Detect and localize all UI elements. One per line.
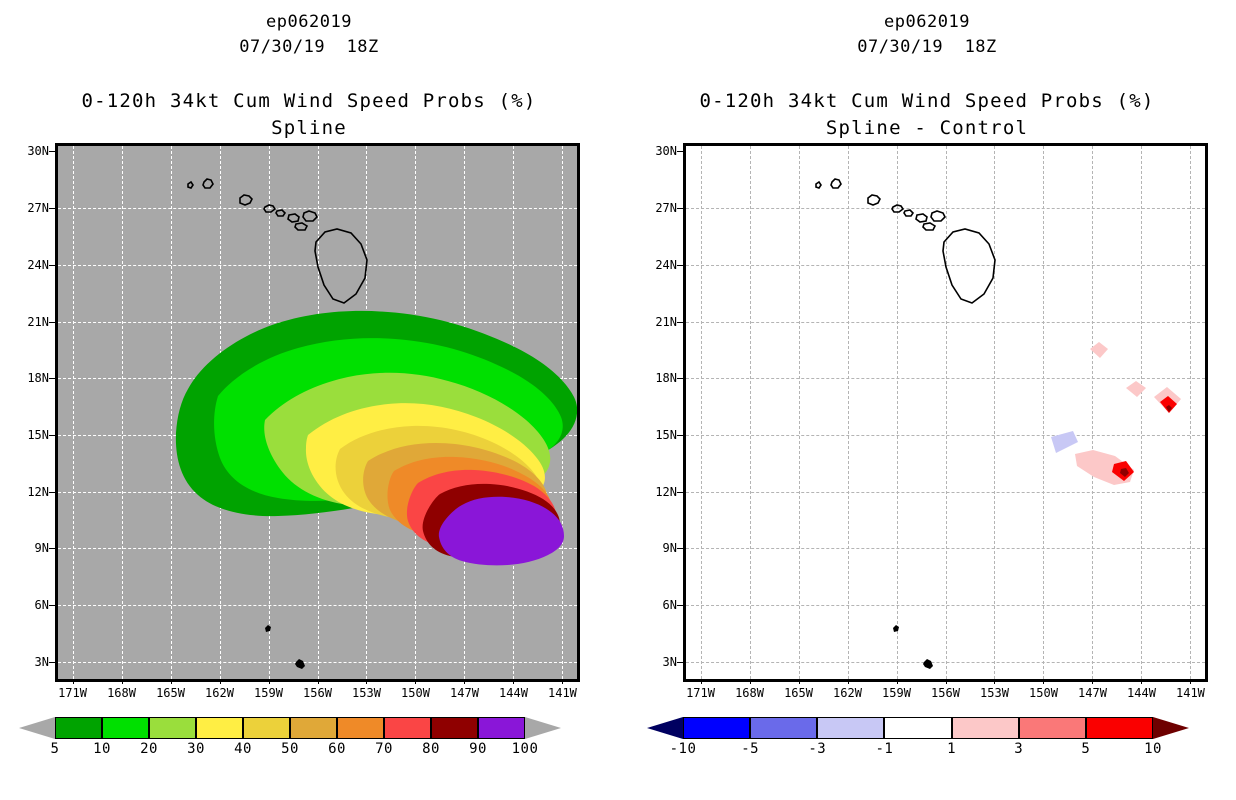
island-small-1-right	[893, 625, 899, 632]
hawaii-outline	[188, 179, 367, 303]
colorbar-tick-label: 20	[140, 741, 158, 757]
x-axis-label: 150W	[1029, 686, 1058, 700]
y-axis-label: 30N	[635, 144, 677, 158]
right-storm-id: ep062019	[618, 10, 1236, 35]
left-chart-subtitle: Spline	[0, 115, 618, 142]
y-axis-label: 15N	[7, 428, 49, 442]
x-axis-label: 162W	[205, 686, 234, 700]
y-tick-mark	[49, 662, 55, 663]
y-tick-mark	[677, 605, 683, 606]
colorbar-under-arrow	[647, 717, 683, 739]
y-axis-label: 24N	[635, 258, 677, 272]
colorbar-tick-label: 10	[1144, 741, 1162, 757]
y-tick-mark	[49, 208, 55, 209]
y-tick-mark	[677, 208, 683, 209]
right-chart-subtitle: Spline - Control	[618, 115, 1236, 142]
colorbar-tick-label: 5	[51, 741, 60, 757]
colorbar-tick-label: -5	[741, 741, 759, 757]
y-tick-mark	[49, 151, 55, 152]
y-axis-label: 21N	[635, 315, 677, 329]
x-axis-label: 144W	[499, 686, 528, 700]
right-diff-layer	[686, 146, 1205, 679]
colorbar-swatch[interactable]	[884, 717, 951, 739]
x-axis-label: 153W	[980, 686, 1009, 700]
y-axis-label: 12N	[7, 485, 49, 499]
colorbar-tick-label: 70	[375, 741, 393, 757]
x-tick-mark	[994, 679, 995, 684]
y-axis-label: 24N	[7, 258, 49, 272]
y-axis-label: 12N	[635, 485, 677, 499]
colorbar-over-arrow	[525, 717, 561, 739]
x-tick-mark	[1141, 679, 1142, 684]
island-small-1	[265, 625, 271, 632]
x-axis-label: 150W	[401, 686, 430, 700]
y-tick-mark	[677, 151, 683, 152]
panel-spline: ep062019 07/30/19 18Z 0-120h 34kt Cum Wi…	[0, 0, 618, 800]
diff-cells	[1051, 342, 1181, 485]
y-axis-label: 3N	[635, 655, 677, 669]
island-small-2-right	[923, 659, 933, 669]
colorbar-tick-label: 60	[328, 741, 346, 757]
x-tick-mark	[513, 679, 514, 684]
y-tick-mark	[677, 378, 683, 379]
x-axis-label: 168W	[735, 686, 764, 700]
colorbar-swatch[interactable]	[1019, 717, 1086, 739]
colorbar-under-arrow	[19, 717, 55, 739]
x-tick-mark	[73, 679, 74, 684]
colorbar-swatch[interactable]	[55, 717, 102, 739]
y-axis-label: 6N	[7, 598, 49, 612]
left-chart-title: 0-120h 34kt Cum Wind Speed Probs (%)	[0, 88, 618, 115]
colorbar-swatch[interactable]	[149, 717, 196, 739]
right-datetime: 07/30/19 18Z	[618, 35, 1236, 60]
colorbar-spline[interactable]: 5102030405060708090100	[55, 717, 525, 739]
colorbar-swatch[interactable]	[384, 717, 431, 739]
colorbar-tick-label: 100	[512, 741, 539, 757]
x-tick-mark	[122, 679, 123, 684]
right-chart-title: 0-120h 34kt Cum Wind Speed Probs (%)	[618, 88, 1236, 115]
x-axis-label: 171W	[58, 686, 87, 700]
x-axis-label: 159W	[882, 686, 911, 700]
colorbar-tick-label: -1	[875, 741, 893, 757]
colorbar-swatch[interactable]	[952, 717, 1019, 739]
x-axis-label: 156W	[303, 686, 332, 700]
colorbar-tick-label: 30	[187, 741, 205, 757]
x-axis-label: 168W	[107, 686, 136, 700]
x-axis-label: 171W	[686, 686, 715, 700]
y-tick-mark	[49, 378, 55, 379]
y-axis-label: 18N	[635, 371, 677, 385]
y-axis-label: 27N	[7, 201, 49, 215]
x-tick-mark	[1190, 679, 1191, 684]
x-tick-mark	[946, 679, 947, 684]
y-tick-mark	[49, 435, 55, 436]
x-axis-label: 156W	[931, 686, 960, 700]
y-axis-label: 15N	[635, 428, 677, 442]
colorbar-tick-label: 50	[281, 741, 299, 757]
y-tick-mark	[677, 662, 683, 663]
x-tick-mark	[464, 679, 465, 684]
y-tick-mark	[677, 435, 683, 436]
map-spline[interactable]: 171W168W165W162W159W156W153W150W147W144W…	[55, 143, 580, 682]
colorbar-tick-label: 10	[93, 741, 111, 757]
colorbar-tick-label: -3	[808, 741, 826, 757]
colorbar-swatch[interactable]	[750, 717, 817, 739]
y-tick-mark	[677, 492, 683, 493]
y-tick-mark	[49, 605, 55, 606]
right-subtitle-block: 0-120h 34kt Cum Wind Speed Probs (%) Spl…	[618, 88, 1236, 142]
x-tick-mark	[799, 679, 800, 684]
y-tick-mark	[49, 548, 55, 549]
x-axis-label: 165W	[156, 686, 185, 700]
y-tick-mark	[49, 492, 55, 493]
hawaii-outline-right	[816, 179, 995, 303]
colorbar-swatch[interactable]	[1086, 717, 1153, 739]
left-title-block: ep062019 07/30/19 18Z	[0, 10, 618, 60]
diff-cell-neg-1	[1051, 431, 1078, 453]
colorbar-tick-label: 5	[1081, 741, 1090, 757]
colorbar-spline-control[interactable]: -10-5-3-113510	[683, 717, 1153, 739]
y-axis-label: 30N	[7, 144, 49, 158]
colorbar-over-arrow	[1153, 717, 1189, 739]
colorbar-swatch[interactable]	[683, 717, 750, 739]
y-axis-label: 6N	[635, 598, 677, 612]
colorbar-tick-label: 40	[234, 741, 252, 757]
colorbar-swatch[interactable]	[102, 717, 149, 739]
left-contour-layer	[58, 146, 577, 679]
colorbar-tick-label: 90	[469, 741, 487, 757]
x-tick-mark	[220, 679, 221, 684]
x-tick-mark	[1092, 679, 1093, 684]
x-tick-mark	[171, 679, 172, 684]
x-tick-mark	[701, 679, 702, 684]
colorbar-swatch[interactable]	[196, 717, 243, 739]
map-spline-control[interactable]: 171W168W165W162W159W156W153W150W147W144W…	[683, 143, 1208, 682]
x-axis-label: 162W	[833, 686, 862, 700]
left-datetime: 07/30/19 18Z	[0, 35, 618, 60]
left-map-frame	[55, 143, 580, 682]
x-tick-mark	[366, 679, 367, 684]
y-axis-label: 18N	[7, 371, 49, 385]
right-title-block: ep062019 07/30/19 18Z	[618, 10, 1236, 60]
x-tick-mark	[269, 679, 270, 684]
colorbar-swatch[interactable]	[337, 717, 384, 739]
left-storm-id: ep062019	[0, 10, 618, 35]
x-axis-label: 153W	[352, 686, 381, 700]
x-axis-label: 147W	[1078, 686, 1107, 700]
x-tick-mark	[318, 679, 319, 684]
colorbar-tick-label: -10	[670, 741, 697, 757]
island-small-2	[295, 659, 305, 669]
colorbar-tick-label: 80	[422, 741, 440, 757]
colorbar-swatch[interactable]	[817, 717, 884, 739]
y-tick-mark	[49, 265, 55, 266]
x-axis-label: 159W	[254, 686, 283, 700]
left-subtitle-block: 0-120h 34kt Cum Wind Speed Probs (%) Spl…	[0, 88, 618, 142]
y-axis-label: 27N	[635, 201, 677, 215]
x-tick-mark	[848, 679, 849, 684]
diff-cell-pos-2	[1126, 381, 1146, 397]
colorbar-swatch[interactable]	[243, 717, 290, 739]
x-tick-mark	[1043, 679, 1044, 684]
y-axis-label: 3N	[7, 655, 49, 669]
x-axis-label: 144W	[1127, 686, 1156, 700]
x-axis-label: 147W	[450, 686, 479, 700]
x-tick-mark	[562, 679, 563, 684]
panel-spline-control: ep062019 07/30/19 18Z 0-120h 34kt Cum Wi…	[618, 0, 1236, 800]
x-tick-mark	[415, 679, 416, 684]
diff-cell-pos-1	[1090, 342, 1108, 358]
x-axis-label: 141W	[548, 686, 577, 700]
y-axis-label: 9N	[7, 541, 49, 555]
x-axis-label: 165W	[784, 686, 813, 700]
x-tick-mark	[750, 679, 751, 684]
x-tick-mark	[897, 679, 898, 684]
colorbar-tick-label: 1	[947, 741, 956, 757]
y-tick-mark	[49, 322, 55, 323]
colorbar-swatch[interactable]	[431, 717, 478, 739]
y-tick-mark	[677, 322, 683, 323]
y-tick-mark	[677, 548, 683, 549]
right-map-frame	[683, 143, 1208, 682]
y-axis-label: 21N	[7, 315, 49, 329]
colorbar-swatch[interactable]	[478, 717, 525, 739]
y-tick-mark	[677, 265, 683, 266]
y-axis-label: 9N	[635, 541, 677, 555]
colorbar-tick-label: 3	[1014, 741, 1023, 757]
colorbar-swatch[interactable]	[290, 717, 337, 739]
x-axis-label: 141W	[1176, 686, 1205, 700]
